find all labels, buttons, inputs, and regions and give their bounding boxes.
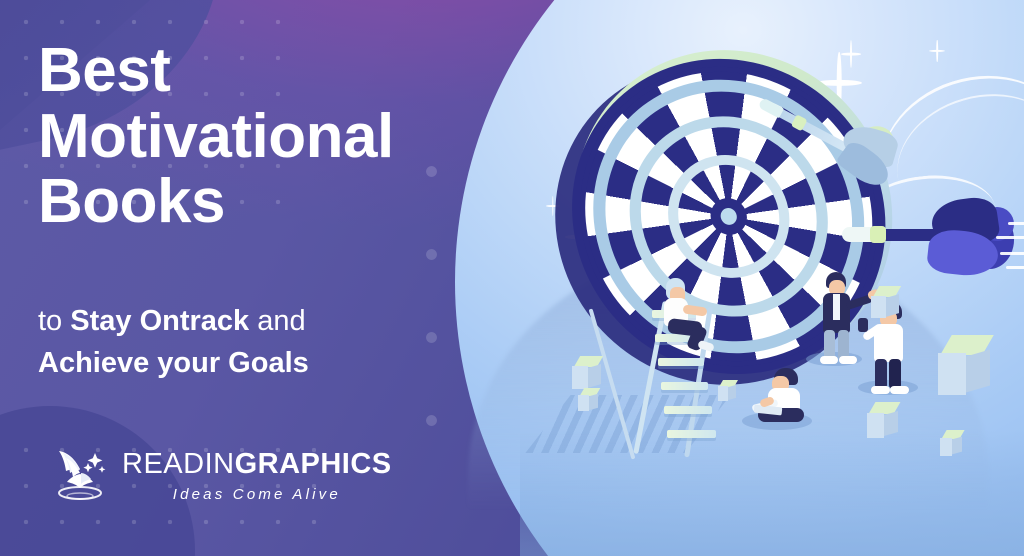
speed-line	[1006, 266, 1024, 269]
cube-icon	[940, 430, 966, 458]
cube-icon	[871, 286, 903, 320]
logo-word-bold: GRAPHICS	[235, 448, 392, 480]
speed-line	[1008, 222, 1024, 225]
subtitle: to Stay Ontrack and Achieve your Goals	[38, 300, 309, 384]
logo-text-block: READINGRAPHICS Ideas Come Alive	[122, 450, 392, 503]
logo-wordmark: READINGRAPHICS	[122, 450, 392, 479]
cube-icon	[578, 388, 602, 414]
page-title: Best Motivational Books	[38, 38, 394, 235]
speed-line	[996, 236, 1024, 239]
brand-logo[interactable]: READINGRAPHICS Ideas Come Alive	[50, 447, 392, 505]
cube-icon	[938, 335, 996, 397]
subtitle-line1-suffix: and	[249, 305, 305, 337]
speed-line	[1000, 252, 1024, 255]
open-book-with-sparkles-icon	[50, 447, 112, 505]
cube-icon	[718, 380, 740, 404]
sparkle-icon	[929, 40, 945, 62]
dart-flying-icon	[876, 205, 1024, 275]
logo-tagline: Ideas Come Alive	[122, 486, 392, 503]
logo-word-light: READIN	[122, 448, 235, 480]
subtitle-line1-bold: Stay Ontrack	[70, 305, 249, 337]
cube-icon	[572, 356, 606, 392]
subtitle-line2-bold: Achieve your Goals	[38, 347, 309, 379]
person-on-ladder	[650, 278, 720, 352]
cube-icon	[867, 402, 903, 440]
promo-banner: Best Motivational Books to Stay Ontrack …	[0, 0, 1024, 556]
person-sitting-laptop	[752, 368, 826, 426]
subtitle-line1-prefix: to	[38, 305, 70, 337]
